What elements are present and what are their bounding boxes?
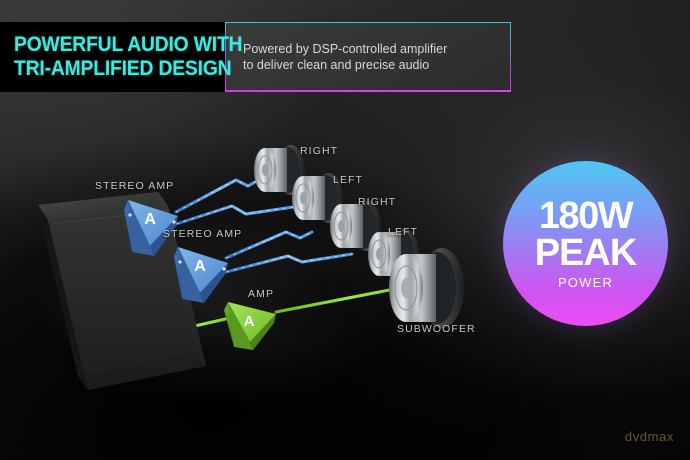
- header-description-text: Powered by DSP-controlled amplifier to d…: [243, 41, 447, 73]
- header-description-line-1: Powered by DSP-controlled amplifier: [243, 41, 447, 57]
- driver-right-1-label: RIGHT: [300, 145, 338, 157]
- power-badge-value: 180W: [539, 198, 632, 234]
- header-title-line-2: TRI-AMPLIFIED DESIGN: [14, 57, 208, 81]
- stereo-amp-2-label: STEREO AMP: [163, 228, 242, 240]
- driver-left-2-label: LEFT: [388, 226, 418, 238]
- svg-text:A: A: [244, 313, 255, 330]
- power-badge-peak: PEAK: [535, 234, 637, 272]
- watermark: dvdmax: [625, 429, 674, 444]
- subwoofer: [389, 248, 464, 328]
- header-title-box: POWERFUL AUDIO WITH TRI-AMPLIFIED DESIGN: [0, 22, 225, 92]
- power-badge-power-label: POWER: [558, 275, 613, 290]
- stereo-amp-1-label: STEREO AMP: [95, 180, 174, 192]
- promo-stage: A A A RIGHT LEFT RIGHT LEFT STEREO AMP S…: [0, 0, 690, 460]
- header-description-line-2: to deliver clean and precise audio: [243, 57, 447, 73]
- sub-amp-label: AMP: [248, 288, 274, 300]
- driver-right-2-label: RIGHT: [358, 196, 396, 208]
- subwoofer-label: SUBWOOFER: [397, 323, 476, 335]
- power-badge: 180W PEAK POWER: [503, 161, 668, 326]
- driver-left-1-label: LEFT: [333, 174, 363, 186]
- header-title-line-1: POWERFUL AUDIO WITH: [14, 33, 208, 57]
- svg-text:A: A: [144, 211, 156, 228]
- header-description-box: Powered by DSP-controlled amplifier to d…: [225, 22, 511, 92]
- header-banner: POWERFUL AUDIO WITH TRI-AMPLIFIED DESIGN…: [0, 22, 511, 92]
- svg-text:A: A: [194, 258, 206, 275]
